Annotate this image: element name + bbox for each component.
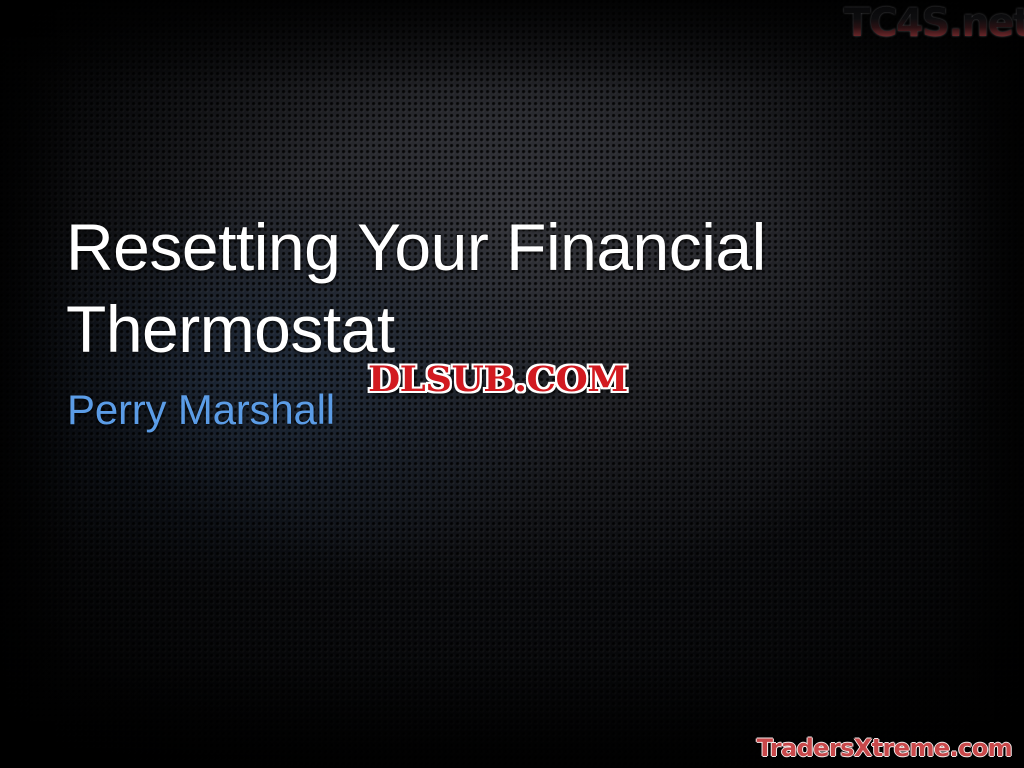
watermark-tc4s: TC4S.net — [844, 2, 1024, 46]
presentation-slide: Resetting Your Financial Thermostat Perr… — [0, 0, 1024, 768]
slide-subtitle-author: Perry Marshall — [67, 386, 335, 434]
watermark-dlsub: DLSUB.COM — [368, 360, 628, 400]
slide-title: Resetting Your Financial Thermostat — [66, 206, 866, 370]
watermark-tradersxtreme: TradersXtreme.com — [757, 734, 1012, 762]
